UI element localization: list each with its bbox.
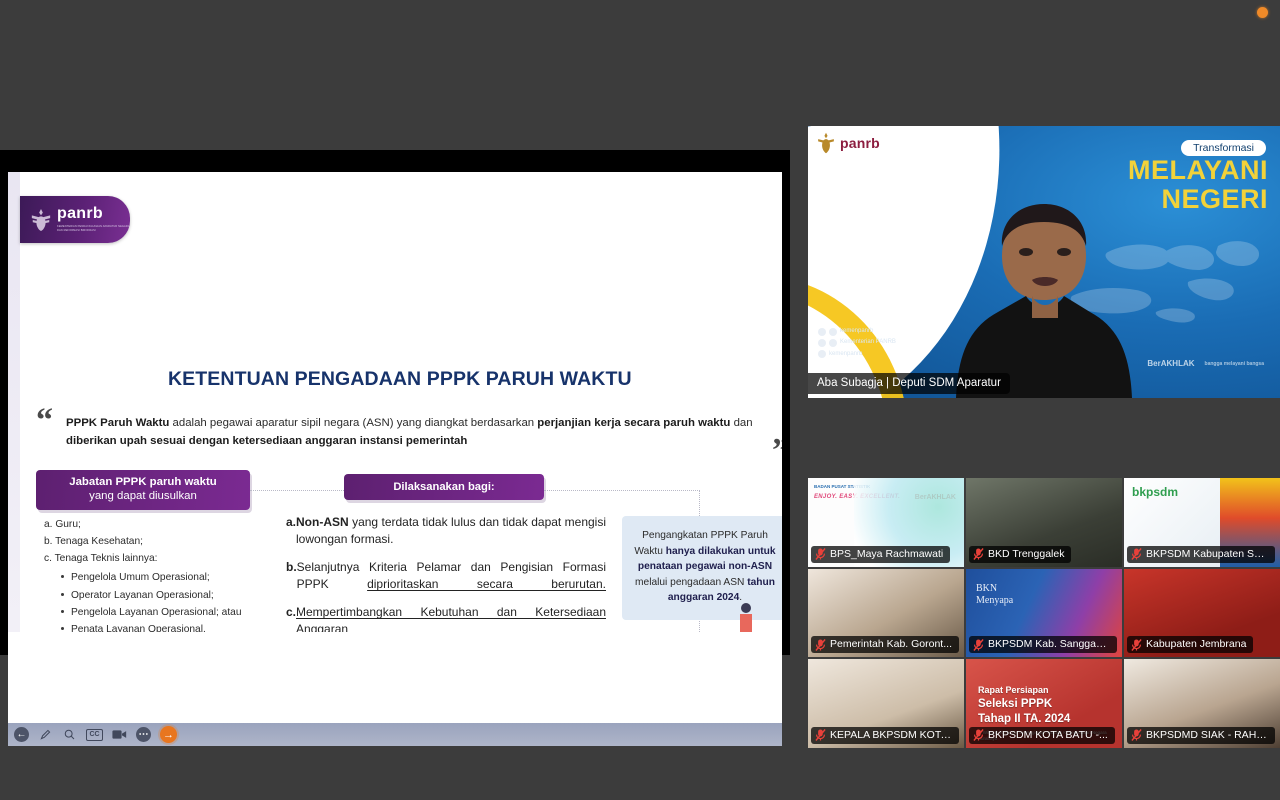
- heading-dilaksanakan-bagi: Dilaksanakan bagi:: [344, 474, 544, 500]
- slide-title: KETENTUAN PENGADAAN PPPK PARUH WAKTU: [168, 368, 768, 391]
- panrb-logo-badge: panrb KEMENTERIAN PENDAYAGUNAAN APARATUR…: [20, 196, 130, 243]
- participant-name-label: BKD Trenggalek: [969, 546, 1071, 563]
- batu-line-2: Seleksi PPPK: [978, 697, 1122, 712]
- shared-screen-stage[interactable]: panrb KEMENTERIAN PENDAYAGUNAAN APARATUR…: [0, 150, 790, 655]
- microphone-muted-icon: [815, 548, 826, 561]
- jabatan-key-1: b.: [44, 536, 53, 547]
- dilaksanakan-underline-2: Mempertimbangkan Kebutuhan dan Ketersedi…: [296, 604, 606, 632]
- dilaksanakan-text-0: Non-ASN yang terdata tidak lulus dan tid…: [296, 514, 606, 548]
- participant-name-label: BKPSDMD SIAK - RAHM...: [1127, 727, 1275, 744]
- panrb-wordmark: panrb KEMENTERIAN PENDAYAGUNAAN APARATUR…: [57, 206, 130, 233]
- bangga-melayani-bangsa-label: bangga melayani bangsa: [1205, 361, 1264, 367]
- list-item: c. Tenaga Teknis lainnya:: [38, 550, 278, 567]
- connector-jabatan-to-dilaksanakan: [250, 490, 344, 491]
- participant-name-label: BKPSDM Kabupaten Su...: [1127, 546, 1275, 563]
- garuda-icon: [816, 132, 836, 154]
- callout-pengangkatan-seg-2: melalui pengadaan ASN: [635, 577, 747, 588]
- instagram-icon: [818, 328, 826, 336]
- screen-root: panrb KEMENTERIAN PENDAYAGUNAAN APARATUR…: [0, 0, 1280, 800]
- participant-tile[interactable]: Kabupaten Jembrana: [1124, 569, 1280, 658]
- speaker-person-figure: [914, 188, 1174, 398]
- participant-tile[interactable]: BADAN PUSAT STATISTIKENJOY. EASY. EXCELL…: [808, 478, 964, 567]
- quote-seg-4: diberikan upah sesuai dengan ketersediaa…: [66, 435, 467, 447]
- video-icon[interactable]: [112, 727, 127, 742]
- participant-name-label: Kabupaten Jembrana: [1127, 636, 1253, 653]
- participant-thumbnail-grid[interactable]: BADAN PUSAT STATISTIKENJOY. EASY. EXCELL…: [808, 478, 1280, 748]
- microphone-muted-icon: [973, 548, 984, 561]
- social-handle-1: Kementerian PANRB: [840, 337, 896, 348]
- tiktok-icon: [829, 328, 837, 336]
- participant-tile[interactable]: BKNMenyapaBKPSDM Kab. Sanggau...: [966, 569, 1122, 658]
- quote-seg-0: PPPK Paruh Waktu: [66, 417, 169, 429]
- jabatan-sublist: Pengelola Umum Operasional; Operator Lay…: [60, 569, 278, 632]
- garuda-icon: [30, 207, 52, 233]
- search-icon[interactable]: [62, 727, 77, 742]
- presentation-slide[interactable]: panrb KEMENTERIAN PENDAYAGUNAAN APARATUR…: [8, 172, 782, 746]
- isometric-illustration: [698, 602, 782, 632]
- slide-left-accent-bar: [8, 172, 20, 632]
- list-item: c. Mempertimbangkan Kebutuhan dan Keters…: [286, 604, 606, 632]
- presentation-toolbar[interactable]: ← CC ⋯ →: [8, 723, 782, 746]
- dilaksanakan-underline-1: diprioritaskan secara berurutan.: [367, 577, 606, 591]
- closed-caption-icon[interactable]: CC: [86, 729, 103, 741]
- next-slide-icon[interactable]: →: [160, 726, 177, 743]
- active-speaker-video[interactable]: panrb Transformasi MELAYANI NEGERI kemen…: [808, 126, 1280, 398]
- list-item: a. Non-ASN yang terdata tidak lulus dan …: [286, 514, 606, 548]
- quote-open-mark: “: [36, 404, 53, 438]
- microphone-muted-icon: [815, 729, 826, 742]
- jabatan-text-2: Tenaga Teknis lainnya:: [55, 553, 158, 564]
- jabatan-text-1: Tenaga Kesehatan;: [55, 536, 143, 547]
- quote-seg-3: dan: [730, 417, 752, 429]
- bps-logo-subtext: BADAN PUSAT STATISTIK: [814, 484, 870, 489]
- berakhlak-small-label: BerAKHLAK: [915, 494, 956, 501]
- participant-name-label: BKPSDM Kab. Sanggau...: [969, 636, 1117, 653]
- social-row-twitter: kemenpanrb: [818, 349, 896, 360]
- facebook-icon: [818, 339, 826, 347]
- slide-quote-text: PPPK Paruh Waktu adalah pegawai aparatur…: [66, 415, 778, 450]
- microphone-muted-icon: [1131, 638, 1142, 651]
- social-handles: kemenpanrb Kementerian PANRB kemenpanrb: [818, 326, 896, 360]
- jabatan-key-2: c.: [44, 553, 52, 564]
- dilaksanakan-key-2: c.: [286, 604, 296, 632]
- bkn-menyapa-text: BKNMenyapa: [976, 583, 1013, 608]
- batu-line-3: Tahap II TA. 2024: [978, 712, 1122, 727]
- microphone-muted-icon: [1131, 729, 1142, 742]
- transformasi-tag: Transformasi: [1181, 140, 1266, 156]
- batu-line-1: Rapat Persiapan: [978, 685, 1122, 697]
- microphone-muted-icon: [1131, 548, 1142, 561]
- participant-name-label: Pemerintah Kab. Goront...: [811, 636, 959, 653]
- panrb-logo-text: panrb: [57, 206, 130, 222]
- microphone-muted-icon: [815, 638, 826, 651]
- bkn-line-2: Menyapa: [976, 595, 1013, 608]
- connector-dilaksanakan-right: [544, 490, 700, 491]
- more-options-icon[interactable]: ⋯: [136, 727, 151, 742]
- participant-tile[interactable]: BKPSDMD SIAK - RAHM...: [1124, 659, 1280, 748]
- panrb-logo-subtext: KEMENTERIAN PENDAYAGUNAAN APARATUR NEGAR…: [57, 225, 130, 233]
- microphone-muted-icon: [973, 729, 984, 742]
- bkn-line-1: BKN: [976, 583, 1013, 596]
- back-icon[interactable]: ←: [14, 727, 29, 742]
- bps-tagline: ENJOY. EASY. EXCELLENT.: [814, 494, 900, 500]
- speaker-name-label: Aba Subagja | Deputi SDM Aparatur: [808, 373, 1010, 394]
- quote-seg-1: adalah pegawai aparatur sipil negara (AS…: [169, 417, 537, 429]
- participant-name-label: BKPSDM KOTA BATU -...: [969, 727, 1115, 744]
- panrb-logo-speaker: panrb: [816, 132, 880, 154]
- panrb-logo-text-speaker: panrb: [840, 135, 880, 151]
- participant-name-label: KEPALA BKPSDM KOTA...: [811, 727, 959, 744]
- heading-jabatan-pppk: Jabatan PPPK paruh waktu yang dapat dius…: [36, 470, 250, 510]
- list-item: Pengelola Umum Operasional;: [60, 569, 278, 586]
- social-row-instagram: kemenpanrb: [818, 326, 896, 337]
- list-item: Penata Layanan Operasional.: [60, 621, 278, 632]
- social-handle-0: kemenpanrb: [840, 326, 873, 337]
- pen-icon[interactable]: [38, 727, 53, 742]
- headline-line-1: MELAYANI: [1128, 156, 1268, 185]
- social-row-facebook: Kementerian PANRB: [818, 337, 896, 348]
- heading-jabatan-line2: yang dapat diusulkan: [40, 489, 246, 503]
- participant-tile[interactable]: bkpsdmBKPSDM Kabupaten Su...: [1124, 478, 1280, 567]
- list-item: Pengelola Layanan Operasional; atau: [60, 604, 278, 621]
- list-item: b. Selanjutnya Kriteria Pelamar dan Peng…: [286, 559, 606, 593]
- list-item: Operator Layanan Operasional;: [60, 587, 278, 604]
- microphone-muted-icon: [973, 638, 984, 651]
- bkpsdm-logo-text: bkpsdm: [1132, 485, 1178, 499]
- recording-indicator-dot: [1257, 7, 1268, 18]
- heading-jabatan-line1: Jabatan PPPK paruh waktu: [40, 476, 246, 489]
- participant-tile[interactable]: Pemerintah Kab. Goront...: [808, 569, 964, 658]
- social-handle-2: kemenpanrb: [829, 349, 862, 360]
- dilaksanakan-text-1: Selanjutnya Kriteria Pelamar dan Pengisi…: [297, 559, 606, 593]
- youtube-icon: [829, 339, 837, 347]
- participant-name-label: BPS_Maya Rachmawati: [811, 546, 950, 563]
- list-item: b. Tenaga Kesehatan;: [38, 533, 278, 550]
- jabatan-key-0: a.: [44, 519, 53, 530]
- participant-tile[interactable]: Rapat PersiapanSeleksi PPPKTahap II TA. …: [966, 659, 1122, 748]
- dilaksanakan-key-1: b.: [286, 559, 297, 593]
- list-item: a. Guru;: [38, 516, 278, 533]
- quote-seg-2: perjanjian kerja secara paruh waktu: [537, 417, 730, 429]
- jabatan-text-0: Guru;: [55, 519, 80, 530]
- jabatan-list: a. Guru; b. Tenaga Kesehatan; c. Tenaga …: [38, 516, 278, 632]
- twitter-icon: [818, 350, 826, 358]
- participant-tile[interactable]: BKD Trenggalek: [966, 478, 1122, 567]
- dilaksanakan-bold-0: Non-ASN: [296, 515, 349, 529]
- slide-content-clip: panrb KEMENTERIAN PENDAYAGUNAAN APARATUR…: [8, 172, 782, 632]
- person-top: [740, 603, 752, 632]
- dilaksanakan-key-0: a.: [286, 514, 296, 548]
- dilaksanakan-list: a. Non-ASN yang terdata tidak lulus dan …: [286, 514, 606, 632]
- participant-tile[interactable]: KEPALA BKPSDM KOTA...: [808, 659, 964, 748]
